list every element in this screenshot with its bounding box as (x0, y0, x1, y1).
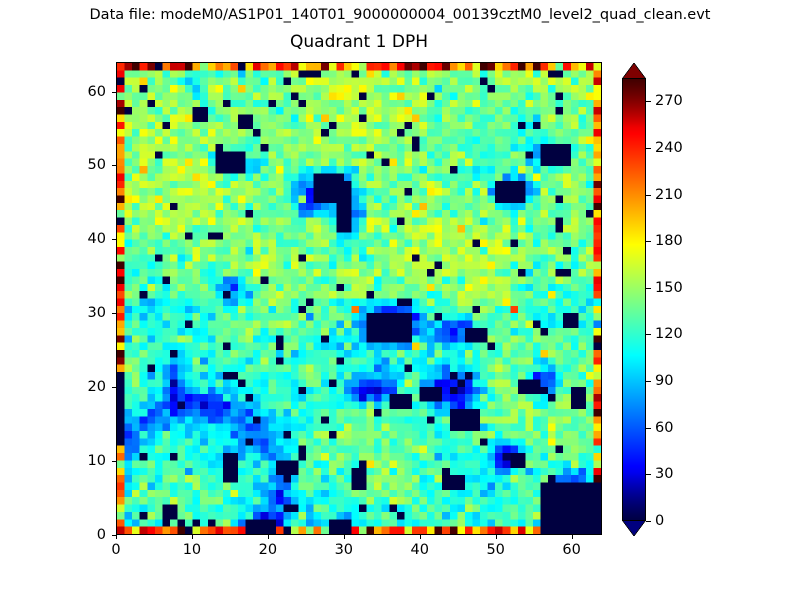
x-tick-mark (496, 535, 497, 539)
y-tick-label: 10 (56, 453, 106, 469)
y-tick-label: 30 (56, 305, 106, 321)
plot-title: Quadrant 1 DPH (116, 32, 602, 52)
y-tick-label: 50 (56, 157, 106, 173)
x-tick-mark (116, 535, 117, 539)
colorbar-tick-mark (646, 474, 651, 475)
y-tick-mark (112, 461, 116, 462)
x-tick-mark (192, 535, 193, 539)
x-tick-label: 50 (486, 542, 504, 558)
y-tick-mark (112, 92, 116, 93)
y-tick-mark (112, 535, 116, 536)
y-tick-label: 40 (56, 231, 106, 247)
heatmap-image (117, 63, 601, 534)
colorbar-tick-mark (646, 381, 651, 382)
colorbar-tick-label: 180 (655, 233, 683, 249)
colorbar-tick-label: 240 (655, 140, 683, 156)
x-tick-label: 40 (411, 542, 429, 558)
data-file-label: Data file: modeM0/AS1P01_140T01_90000000… (0, 7, 800, 23)
colorbar-tick-label: 210 (655, 187, 683, 203)
y-tick-label: 0 (56, 527, 106, 543)
colorbar-tick-mark (646, 241, 651, 242)
colorbar-tick-label: 30 (655, 466, 673, 482)
heatmap-axes[interactable] (116, 62, 602, 535)
x-tick-mark (420, 535, 421, 539)
colorbar-tick-mark (646, 521, 651, 522)
x-tick-mark (268, 535, 269, 539)
colorbar-tick-label: 150 (655, 280, 683, 296)
x-tick-label: 60 (562, 542, 580, 558)
y-tick-mark (112, 313, 116, 314)
colorbar-tick-label: 120 (655, 326, 683, 342)
x-tick-label: 20 (259, 542, 277, 558)
x-tick-label: 30 (335, 542, 353, 558)
colorbar-gradient (622, 62, 646, 537)
x-tick-label: 0 (111, 542, 120, 558)
y-tick-label: 60 (56, 84, 106, 100)
colorbar-tick-mark (646, 101, 651, 102)
colorbar-tick-label: 270 (655, 93, 683, 109)
colorbar-tick-mark (646, 334, 651, 335)
colorbar-tick-mark (646, 288, 651, 289)
y-tick-mark (112, 387, 116, 388)
colorbar-tick-label: 0 (655, 513, 664, 529)
colorbar-tick-mark (646, 148, 651, 149)
colorbar-tick-mark (646, 428, 651, 429)
colorbar-tick-label: 90 (655, 373, 673, 389)
y-tick-mark (112, 165, 116, 166)
colorbar-tick-mark (646, 195, 651, 196)
x-tick-mark (572, 535, 573, 539)
figure-canvas: Data file: modeM0/AS1P01_140T01_90000000… (0, 0, 800, 600)
y-tick-mark (112, 239, 116, 240)
colorbar[interactable] (622, 62, 646, 537)
x-tick-label: 10 (183, 542, 201, 558)
y-tick-label: 20 (56, 379, 106, 395)
x-tick-mark (344, 535, 345, 539)
colorbar-tick-label: 60 (655, 420, 673, 436)
